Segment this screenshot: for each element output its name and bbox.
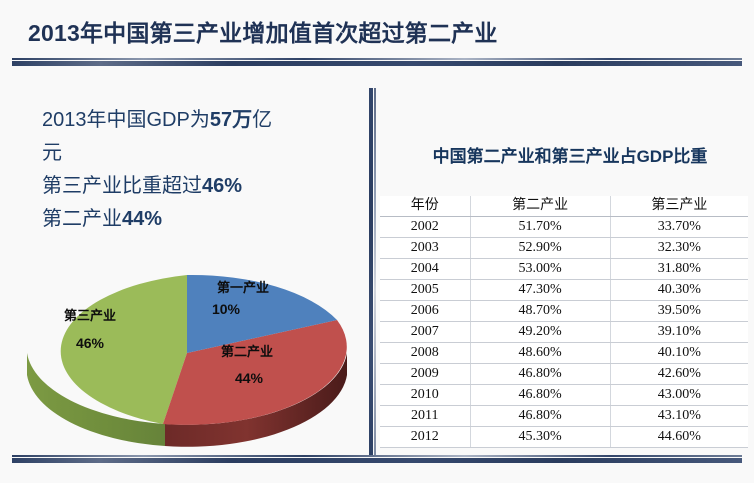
summary-line-1-suffix: 亿 [252,109,272,131]
pie-value-secondary: 44% [235,370,264,386]
summary-line-1-prefix: 2013年中国GDP为 [42,109,210,131]
cell-year: 2004 [380,259,470,280]
table-row: 200547.30%40.30% [380,280,748,301]
table-row: 200453.00%31.80% [380,259,748,280]
table-header-row: 年份 第二产业 第三产业 [380,196,748,217]
page-title: 2013年中国第三产业增加值首次超过第二产业 [28,14,498,48]
cell-year: 2007 [380,322,470,343]
cell-secondary-share: 45.30% [470,427,610,448]
cell-secondary-share: 51.70% [470,217,610,238]
table-row: 201245.30%44.60% [380,427,748,448]
pie-chart-svg: 第一产业 10% 第二产业 44% 第三产业 46% [22,258,352,450]
summary-line-2: 元 [42,137,342,170]
table-row: 201146.80%43.10% [380,406,748,427]
summary-line-4: 第二产业44% [42,203,342,236]
pie-label-tertiary: 第三产业 [64,308,116,323]
footer-line-thin [12,455,742,457]
table-row: 200946.80%42.60% [380,364,748,385]
data-table-container: 年份 第二产业 第三产业 200251.70%33.70%200352.90%3… [380,196,748,448]
title-divider-top [12,58,742,66]
vertical-divider [369,88,376,455]
cell-year: 2008 [380,343,470,364]
cell-tertiary-share: 39.10% [610,322,748,343]
summary-tertiary-share: 46% [202,175,242,197]
cell-tertiary-share: 42.60% [610,364,748,385]
cell-year: 2009 [380,364,470,385]
cell-secondary-share: 46.80% [470,406,610,427]
footer-line-thick [12,458,742,463]
table-row: 200251.70%33.70% [380,217,748,238]
cell-secondary-share: 52.90% [470,238,610,259]
cell-year: 2005 [380,280,470,301]
cell-secondary-share: 49.20% [470,322,610,343]
pie-label-secondary: 第二产业 [221,344,273,359]
cell-secondary-share: 53.00% [470,259,610,280]
pie-label-primary: 第一产业 [217,280,269,295]
table-body: 200251.70%33.70%200352.90%32.30%200453.0… [380,217,748,448]
summary-line-4-prefix: 第二产业 [42,208,122,230]
cell-tertiary-share: 31.80% [610,259,748,280]
cell-tertiary-share: 40.10% [610,343,748,364]
footer-divider [12,455,742,463]
cell-year: 2003 [380,238,470,259]
summary-secondary-share: 44% [122,208,162,230]
column-header-secondary: 第二产业 [470,196,610,217]
cell-secondary-share: 48.60% [470,343,610,364]
table-row: 200648.70%39.50% [380,301,748,322]
divider-line-thin [12,58,742,60]
summary-line-3-prefix: 第三产业比重超过 [42,175,202,197]
cell-year: 2006 [380,301,470,322]
cell-secondary-share: 48.70% [470,301,610,322]
cell-tertiary-share: 39.50% [610,301,748,322]
pie-value-tertiary: 46% [76,335,105,351]
cell-tertiary-share: 43.10% [610,406,748,427]
summary-line-3: 第三产业比重超过46% [42,170,342,203]
cell-tertiary-share: 32.30% [610,238,748,259]
table-row: 200848.60%40.10% [380,343,748,364]
cell-tertiary-share: 43.00% [610,385,748,406]
slide-canvas: 2013年中国第三产业增加值首次超过第二产业 2013年中国GDP为57万亿 元… [0,0,754,483]
column-header-year: 年份 [380,196,470,217]
gdp-share-table: 年份 第二产业 第三产业 200251.70%33.70%200352.90%3… [380,196,748,448]
column-header-tertiary: 第三产业 [610,196,748,217]
table-row: 200352.90%32.30% [380,238,748,259]
cell-secondary-share: 46.80% [470,364,610,385]
pie-chart: 第一产业 10% 第二产业 44% 第三产业 46% [22,258,352,450]
table-row: 200749.20%39.10% [380,322,748,343]
cell-tertiary-share: 33.70% [610,217,748,238]
vertical-divider-thin [374,88,376,455]
cell-secondary-share: 47.30% [470,280,610,301]
vertical-divider-thick [369,88,373,455]
cell-year: 2010 [380,385,470,406]
summary-gdp-value: 57万 [210,109,252,131]
pie-value-primary: 10% [212,301,241,317]
divider-line-thick [12,61,742,66]
table-head: 年份 第二产业 第三产业 [380,196,748,217]
cell-tertiary-share: 44.60% [610,427,748,448]
cell-tertiary-share: 40.30% [610,280,748,301]
cell-year: 2002 [380,217,470,238]
cell-secondary-share: 46.80% [470,385,610,406]
summary-text-block: 2013年中国GDP为57万亿 元 第三产业比重超过46% 第二产业44% [42,104,342,236]
table-row: 201046.80%43.00% [380,385,748,406]
cell-year: 2011 [380,406,470,427]
summary-line-1: 2013年中国GDP为57万亿 [42,104,342,137]
cell-year: 2012 [380,427,470,448]
table-title: 中国第二产业和第三产业占GDP比重 [396,142,744,167]
